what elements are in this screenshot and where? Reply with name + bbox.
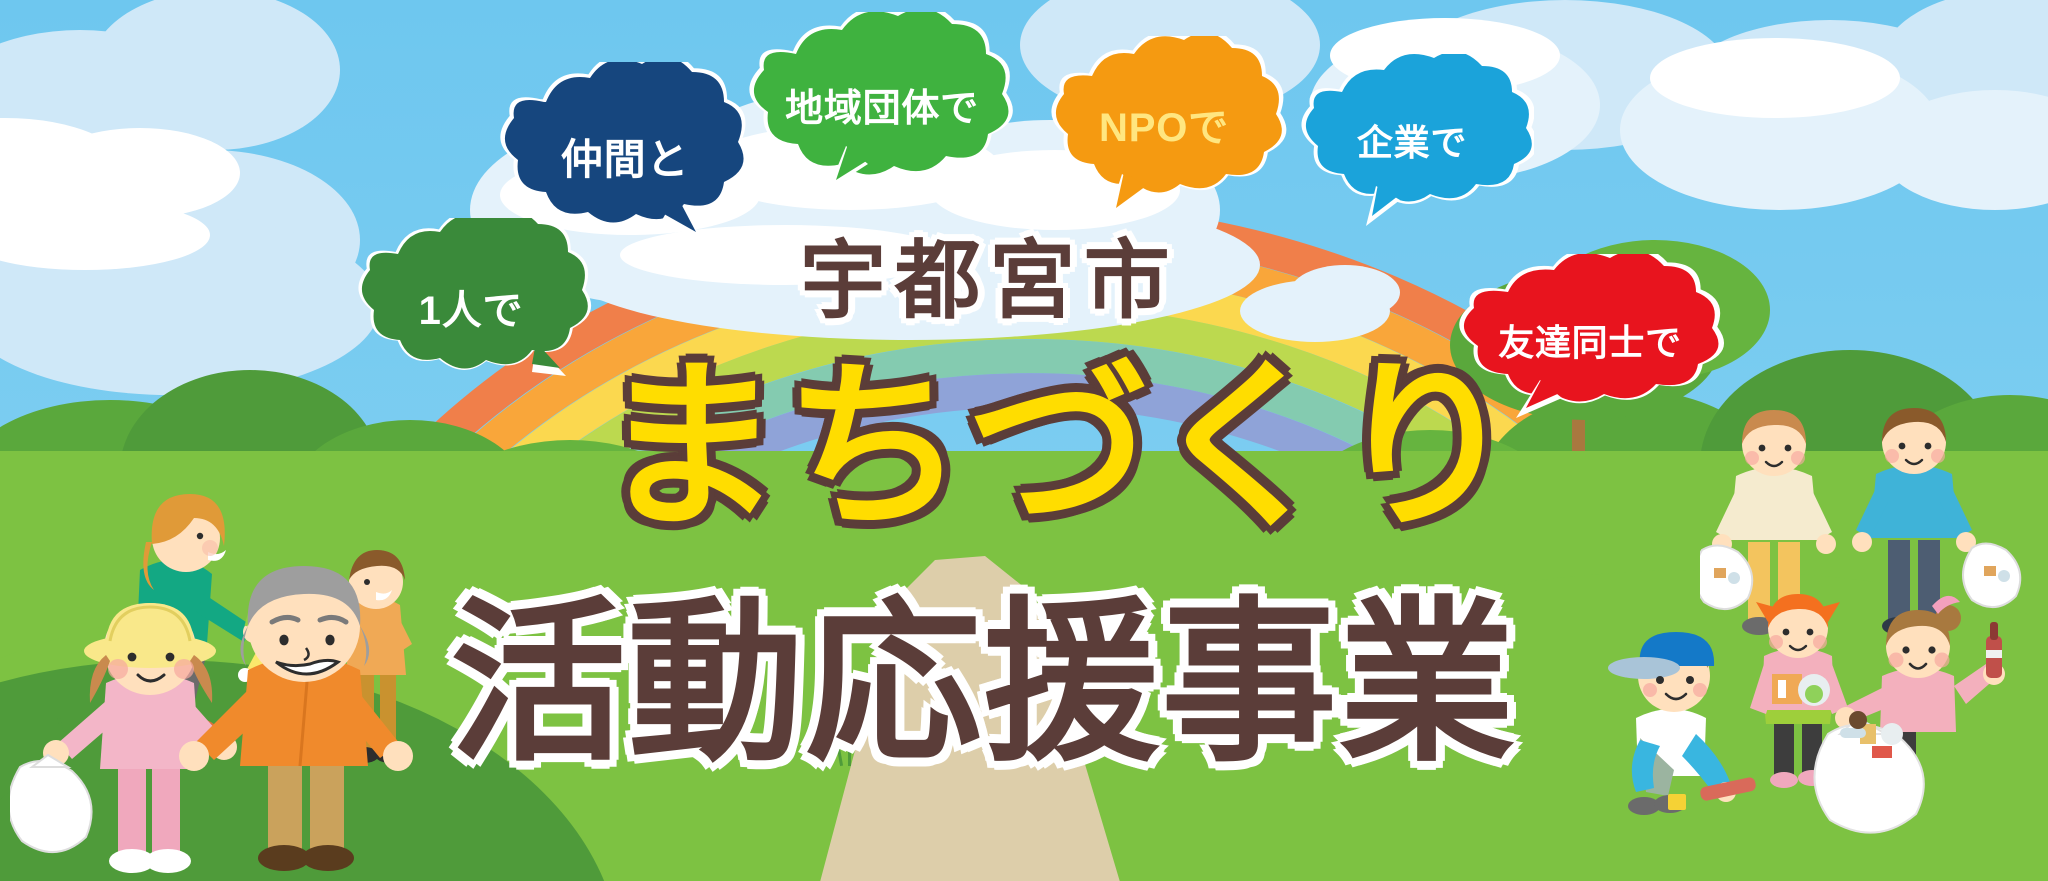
bubble-solo-label: 1人で bbox=[419, 278, 524, 336]
bubble-friends[interactable]: 友達同士で bbox=[1490, 288, 1690, 392]
person-girl-ponytail bbox=[1814, 596, 2005, 833]
person-boy-blue-cap bbox=[1608, 632, 1757, 815]
bubble-npo-label: NPOで bbox=[1099, 95, 1229, 153]
bubble-npo[interactable]: NPOで bbox=[1076, 68, 1252, 180]
bubble-local-group-label: 地域団体で bbox=[785, 77, 979, 132]
bubble-company-label: 企業で bbox=[1357, 114, 1467, 166]
title-main: まちづくり bbox=[600, 300, 1519, 563]
title-sub: 活動応援事業 bbox=[450, 540, 1517, 795]
bubble-company[interactable]: 企業で bbox=[1326, 88, 1498, 192]
bubble-friends-label: 友達同士で bbox=[1498, 314, 1682, 366]
bubble-local-group[interactable]: 地域団体で bbox=[778, 48, 986, 160]
bubble-solo[interactable]: 1人で bbox=[380, 248, 562, 366]
bubble-peers-label: 仲間と bbox=[561, 126, 690, 187]
bubble-peers[interactable]: 仲間と bbox=[530, 96, 720, 216]
campaign-banner: 1人で 仲間と 地域団体で NPOで bbox=[0, 0, 2048, 881]
